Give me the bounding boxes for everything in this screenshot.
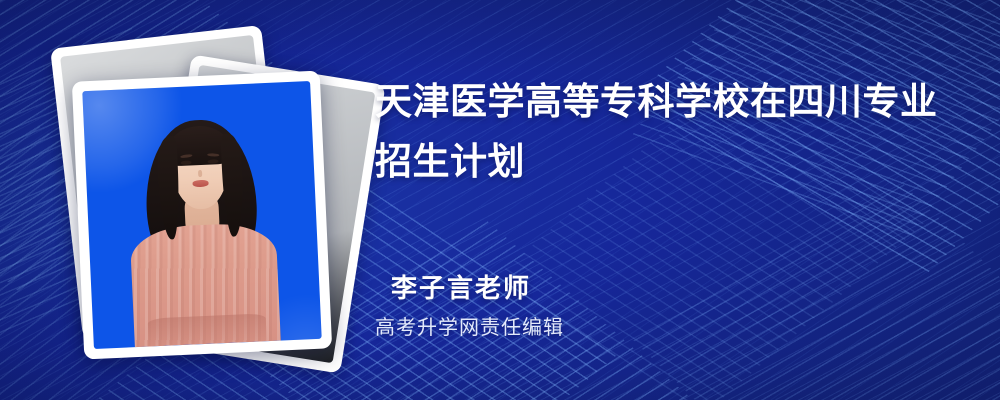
author-name: 李子言老师 <box>391 268 935 305</box>
author-portrait-photo <box>82 81 321 349</box>
article-cover-banner: 天津医学高等专科学校在四川专业招生计划 李子言老师 高考升学网责任编辑 <box>0 0 1000 400</box>
banner-title: 天津医学高等专科学校在四川专业招生计划 <box>375 72 950 192</box>
author-portrait-card <box>72 71 332 360</box>
portrait-figure <box>82 81 321 349</box>
portrait-dress-waist <box>147 313 267 347</box>
banner-text-content: 天津医学高等专科学校在四川专业招生计划 李子言老师 高考升学网责任编辑 <box>375 0 975 400</box>
author-byline: 李子言老师 高考升学网责任编辑 <box>375 268 935 340</box>
portrait-nose <box>198 170 202 177</box>
portrait-eyebrow-right <box>207 153 219 156</box>
portrait-photo-stack <box>60 28 360 373</box>
author-role: 高考升学网责任编辑 <box>375 311 935 340</box>
